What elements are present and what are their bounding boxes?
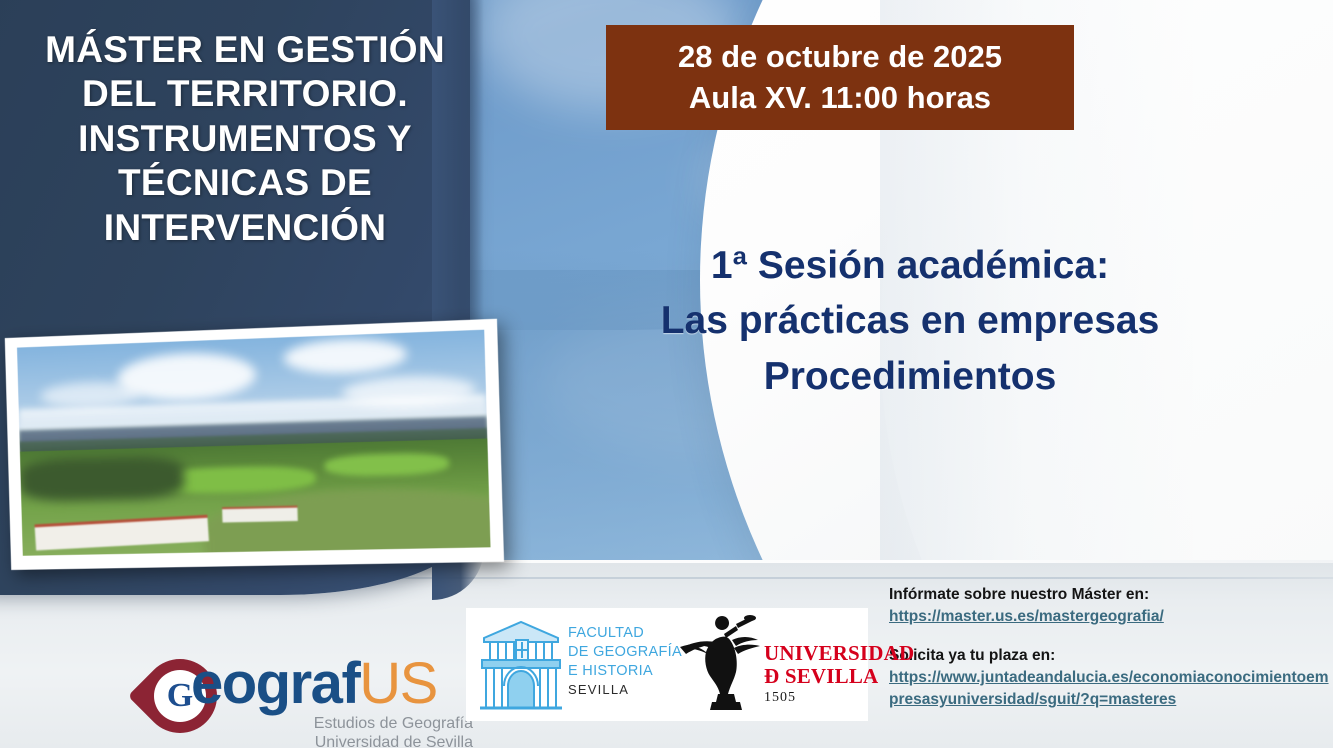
enroll-link[interactable]: https://www.juntadeandalucia.es/economia… bbox=[889, 667, 1329, 711]
photo-cloud bbox=[40, 381, 140, 409]
geografus-subtitle: Estudios de Geografía Universidad de Sev… bbox=[314, 715, 473, 748]
session-title-line-1: 1ª Sesión académica: bbox=[500, 238, 1320, 293]
photo-village bbox=[222, 506, 297, 522]
landscape-photo bbox=[5, 319, 504, 570]
geografus-pin-letter: G bbox=[167, 679, 193, 713]
faculty-line-2: DE GEOGRAFÍA bbox=[568, 643, 682, 662]
session-title-line-2: Las prácticas en empresas bbox=[500, 293, 1320, 348]
event-date: 28 de octubre de 2025 bbox=[678, 37, 1002, 77]
geografus-word-primary: eograf bbox=[191, 651, 359, 716]
university-logo-text: UNIVERSIDAD Ð SEVILLA 1505 bbox=[764, 642, 914, 706]
page-title: MÁSTER EN GESTIÓN DEL TERRITORIO. INSTRU… bbox=[10, 28, 480, 250]
info-spacer bbox=[889, 628, 1329, 645]
faculty-city: SEVILLA bbox=[568, 681, 682, 698]
faculty-building-icon bbox=[480, 616, 562, 712]
geografus-wordmark: eografUS bbox=[191, 655, 437, 713]
giralda-angel-icon bbox=[678, 614, 764, 714]
master-info-link[interactable]: https://master.us.es/mastergeografia/ bbox=[889, 606, 1329, 628]
info-links-block: Infórmate sobre nuestro Máster en: https… bbox=[889, 584, 1329, 711]
geografus-logo: G eografUS Estudios de Geografía Univers… bbox=[143, 653, 473, 748]
photo-frame bbox=[5, 319, 504, 570]
faculty-logo-text: FACULTAD DE GEOGRAFÍA E HISTORIA SEVILLA bbox=[568, 624, 682, 699]
session-title-line-3: Procedimientos bbox=[500, 349, 1320, 404]
event-room-time: Aula XV. 11:00 horas bbox=[689, 78, 991, 118]
photo-cloud bbox=[283, 337, 408, 376]
university-line-2: Ð SEVILLA bbox=[764, 665, 914, 688]
photo-woodland bbox=[20, 455, 185, 501]
faculty-line-1: FACULTAD bbox=[568, 624, 682, 643]
university-line-1: UNIVERSIDAD bbox=[764, 642, 914, 665]
geografus-word-secondary: US bbox=[359, 651, 437, 716]
date-time-box: 28 de octubre de 2025 Aula XV. 11:00 hor… bbox=[606, 25, 1074, 130]
master-info-heading: Infórmate sobre nuestro Máster en: bbox=[889, 584, 1329, 606]
enroll-heading: Solicita ya tu plaza en: bbox=[889, 645, 1329, 667]
institution-logo-band: FACULTAD DE GEOGRAFÍA E HISTORIA SEVILLA… bbox=[466, 608, 868, 721]
faculty-line-3: E HISTORIA bbox=[568, 662, 682, 681]
event-poster: MÁSTER EN GESTIÓN DEL TERRITORIO. INSTRU… bbox=[0, 0, 1333, 748]
photo-image bbox=[17, 330, 491, 556]
session-title: 1ª Sesión académica: Las prácticas en em… bbox=[500, 238, 1320, 404]
geografus-subtitle-line-2: Universidad de Sevilla bbox=[314, 734, 473, 748]
geografus-subtitle-line-1: Estudios de Geografía bbox=[314, 715, 473, 734]
university-founding-year: 1505 bbox=[764, 690, 914, 706]
